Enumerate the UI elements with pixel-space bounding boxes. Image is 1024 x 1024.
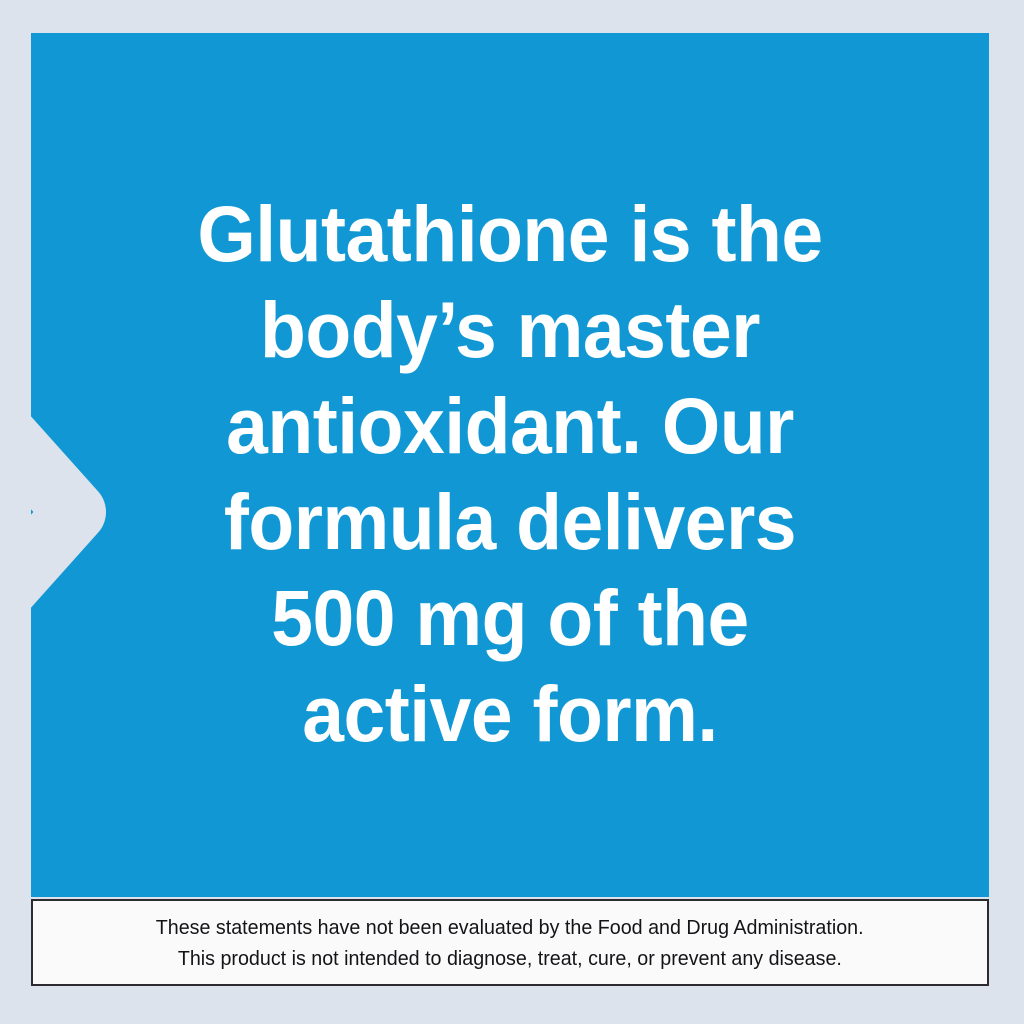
headline-line: active form. <box>55 666 965 762</box>
promo-graphic-canvas: Glutathione is the body’s master antioxi… <box>0 0 1024 1024</box>
disclaimer-line: This product is not intended to diagnose… <box>178 943 842 974</box>
headline-line: formula delivers <box>55 474 965 570</box>
page-title: Glutathione is the body’s master antioxi… <box>55 186 965 762</box>
headline-line: Glutathione is the <box>55 186 965 282</box>
headline-line: 500 mg of the <box>55 570 965 666</box>
disclaimer-box: These statements have not been evaluated… <box>31 899 989 986</box>
headline-line: body’s master <box>55 282 965 378</box>
disclaimer-line: These statements have not been evaluated… <box>156 912 864 943</box>
headline-line: antioxidant. Our <box>55 378 965 474</box>
